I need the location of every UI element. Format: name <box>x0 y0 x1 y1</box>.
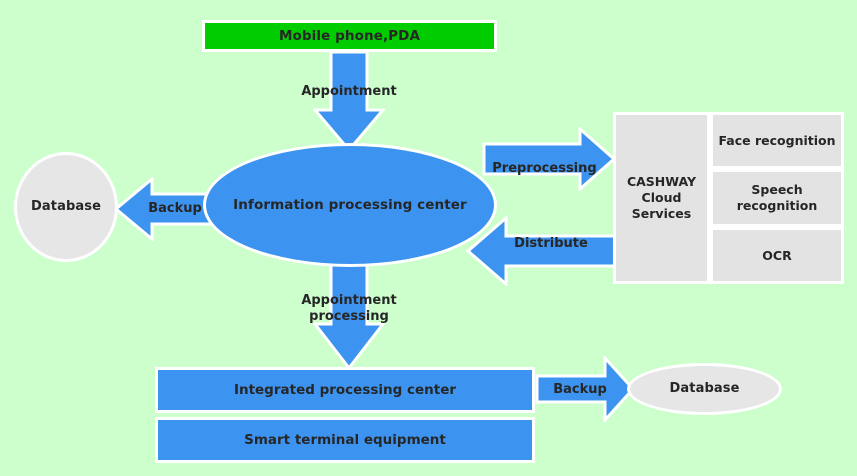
cloud-service-face-recognition[interactable]: Face recognition <box>710 112 844 169</box>
panel-cashway-cloud-services: CASHWAY Cloud Services Face recognition … <box>613 112 844 284</box>
node-database-left[interactable] <box>14 152 118 262</box>
cloud-label-line-3: Services <box>627 206 696 222</box>
node-integrated-processing-center-label: Integrated processing center <box>234 382 456 398</box>
cloud-service-ocr-label: OCR <box>762 248 791 264</box>
cloud-service-speech-recognition-label: Speech recognition <box>737 182 818 213</box>
arrow-appointment <box>313 52 385 152</box>
cloud-service-list: Face recognition Speech recognition OCR <box>710 112 844 284</box>
node-smart-terminal-equipment-label: Smart terminal equipment <box>244 432 446 448</box>
node-smart-terminal-equipment[interactable]: Smart terminal equipment <box>155 417 535 463</box>
node-cashway-cloud-services-label: CASHWAY Cloud Services <box>627 174 696 223</box>
cloud-service-face-recognition-label: Face recognition <box>719 133 836 149</box>
cloud-label-line-1: CASHWAY <box>627 174 696 190</box>
node-integrated-processing-center[interactable]: Integrated processing center <box>155 367 535 413</box>
arrow-backup-bottom <box>535 356 635 422</box>
node-database-bottom[interactable] <box>627 363 782 415</box>
speech-label-line-1: Speech <box>751 182 802 197</box>
arrow-distribute <box>466 216 618 286</box>
diagram-canvas: Mobile phone,PDA Appointment Information… <box>0 0 857 476</box>
node-mobile-phone-pda[interactable] <box>202 20 497 52</box>
cloud-service-speech-recognition[interactable]: Speech recognition <box>710 169 844 226</box>
node-cashway-cloud-services[interactable]: CASHWAY Cloud Services <box>613 112 710 284</box>
node-information-processing-center[interactable] <box>203 143 497 267</box>
cloud-label-line-2: Cloud <box>627 190 696 206</box>
arrow-appointment-processing <box>313 262 385 370</box>
cloud-service-ocr[interactable]: OCR <box>710 227 844 284</box>
arrow-preprocessing <box>482 127 616 191</box>
speech-label-line-2: recognition <box>737 198 818 213</box>
